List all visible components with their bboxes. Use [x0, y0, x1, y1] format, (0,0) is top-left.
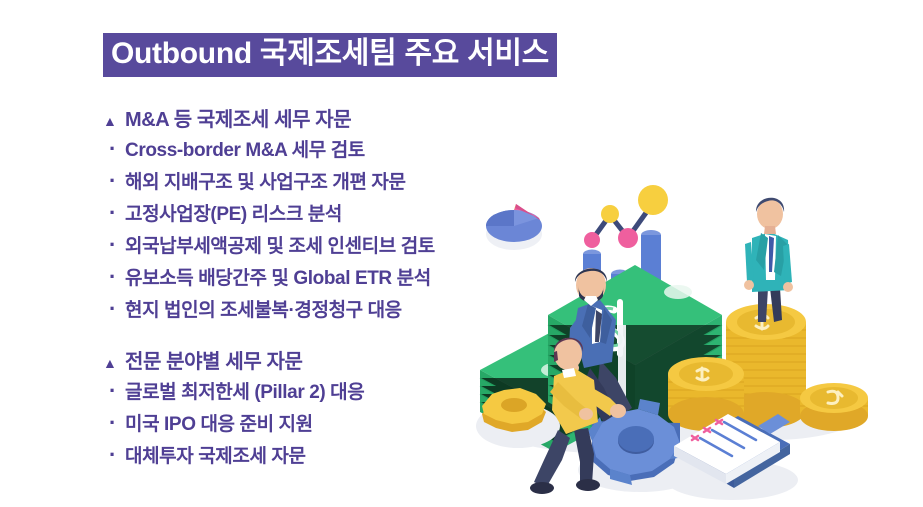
triangle-marker-icon: ▲	[103, 114, 125, 128]
slide-canvas: Outbound 국제조세팀 주요 서비스 ▲ M&A 등 국제조세 세무 자문…	[0, 0, 923, 507]
dot-marker-icon: ·	[103, 298, 125, 320]
dot-marker-icon: ·	[103, 444, 125, 466]
page-title-text: Outbound 국제조세팀 주요 서비스	[103, 33, 557, 77]
list-item-label: Cross-border M&A 세무 검토	[125, 135, 365, 162]
dot-marker-icon: ·	[103, 412, 125, 434]
list-item-label: 글로벌 최저한세 (Pillar 2) 대응	[125, 377, 364, 404]
dot-marker-icon: ·	[103, 170, 125, 192]
page-title: Outbound 국제조세팀 주요 서비스	[103, 33, 557, 77]
service-group-2-heading-label: 전문 분야별 세무 자문	[125, 345, 302, 374]
service-group-2: ▲ 전문 분야별 세무 자문 · 글로벌 최저한세 (Pillar 2) 대응 …	[103, 345, 364, 473]
list-item: · 해외 지배구조 및 사업구조 개편 자문	[103, 167, 435, 199]
dot-marker-icon: ·	[103, 234, 125, 256]
list-item: · 글로벌 최저한세 (Pillar 2) 대응	[103, 377, 364, 409]
list-item-label: 미국 IPO 대응 준비 지원	[125, 409, 313, 436]
list-item-label: 해외 지배구조 및 사업구조 개편 자문	[125, 167, 406, 194]
list-item: · 현지 법인의 조세불복·경정청구 대응	[103, 295, 435, 327]
service-group-1-heading: ▲ M&A 등 국제조세 세무 자문	[103, 103, 435, 135]
service-group-2-heading: ▲ 전문 분야별 세무 자문	[103, 345, 364, 377]
pie-chart-icon	[486, 204, 542, 250]
list-item: · 유보소득 배당간주 및 Global ETR 분석	[103, 263, 435, 295]
list-item-label: 고정사업장(PE) 리스크 분석	[125, 199, 342, 226]
list-item-label: 현지 법인의 조세불복·경정청구 대응	[125, 295, 402, 322]
standing-businessman-figure	[744, 198, 793, 322]
isometric-finance-illustration	[470, 130, 920, 500]
dot-marker-icon: ·	[103, 266, 125, 288]
service-group-1: ▲ M&A 등 국제조세 세무 자문 · Cross-border M&A 세무…	[103, 103, 435, 327]
dot-marker-icon: ·	[103, 138, 125, 160]
list-item: · Cross-border M&A 세무 검토	[103, 135, 435, 167]
triangle-marker-icon: ▲	[103, 356, 125, 370]
list-item: · 미국 IPO 대응 준비 지원	[103, 409, 364, 441]
list-item-label: 대체투자 국제조세 자문	[125, 441, 306, 468]
dot-marker-icon: ·	[103, 380, 125, 402]
list-item: · 대체투자 국제조세 자문	[103, 441, 364, 473]
list-item: · 외국납부세액공제 및 조세 인센티브 검토	[103, 231, 435, 263]
dot-marker-icon: ·	[103, 202, 125, 224]
coin-stack-icon	[800, 383, 868, 431]
list-item-label: 유보소득 배당간주 및 Global ETR 분석	[125, 263, 431, 290]
service-group-1-heading-label: M&A 등 국제조세 세무 자문	[125, 103, 351, 132]
list-item: · 고정사업장(PE) 리스크 분석	[103, 199, 435, 231]
list-item-label: 외국납부세액공제 및 조세 인센티브 검토	[125, 231, 435, 258]
